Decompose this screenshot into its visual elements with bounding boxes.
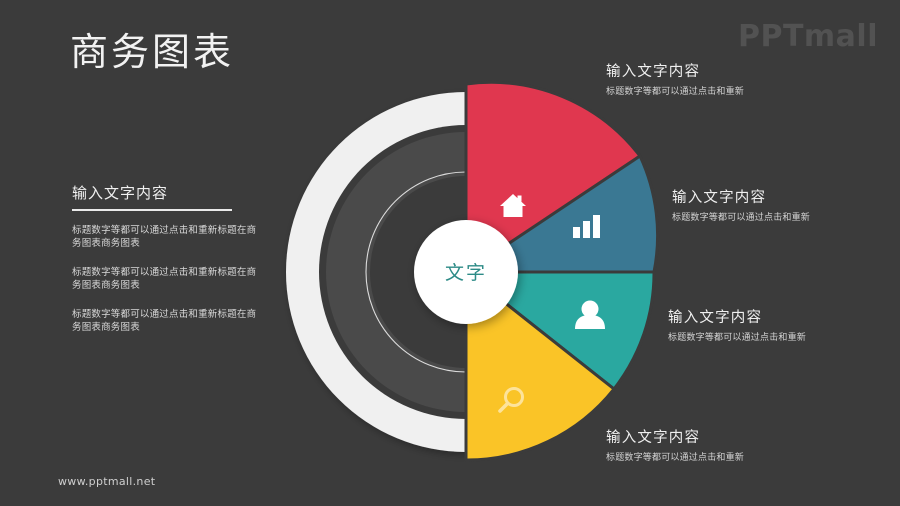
- left-block-divider: [72, 209, 232, 211]
- left-block-heading: 输入文字内容: [72, 183, 258, 203]
- callout-3-title: 输入文字内容: [668, 308, 898, 328]
- callout-3-subtitle: 标题数字等都可以通过点击和重新: [668, 332, 898, 344]
- brand-logo: PPTmall: [738, 20, 878, 54]
- callout-3: 输入文字内容 标题数字等都可以通过点击和重新: [668, 308, 898, 344]
- callout-1: 输入文字内容 标题数字等都可以通过点击和重新: [606, 62, 836, 98]
- slide-canvas: 商务图表 PPTmall 输入文字内容 标题数字等都可以通过点击和重新标题在商务…: [0, 0, 900, 506]
- circular-diagram: 文字: [260, 55, 680, 485]
- callout-1-subtitle: 标题数字等都可以通过点击和重新: [606, 86, 836, 98]
- callout-2-subtitle: 标题数字等都可以通过点击和重新: [672, 212, 900, 224]
- callout-4-title: 输入文字内容: [606, 428, 836, 448]
- footer-url: www.pptmall.net: [58, 475, 155, 488]
- callout-2: 输入文字内容 标题数字等都可以通过点击和重新: [672, 188, 900, 224]
- center-label: 文字: [445, 262, 487, 284]
- page-title: 商务图表: [70, 28, 234, 76]
- callout-4: 输入文字内容 标题数字等都可以通过点击和重新: [606, 428, 836, 464]
- callout-1-title: 输入文字内容: [606, 62, 836, 82]
- left-block-paragraph-3: 标题数字等都可以通过点击和重新标题在商务图表商务图表: [72, 308, 258, 334]
- left-text-block: 输入文字内容 标题数字等都可以通过点击和重新标题在商务图表商务图表 标题数字等都…: [72, 183, 258, 334]
- callout-2-title: 输入文字内容: [672, 188, 900, 208]
- left-block-paragraph-1: 标题数字等都可以通过点击和重新标题在商务图表商务图表: [72, 224, 258, 250]
- left-block-paragraph-2: 标题数字等都可以通过点击和重新标题在商务图表商务图表: [72, 266, 258, 292]
- callout-4-subtitle: 标题数字等都可以通过点击和重新: [606, 452, 836, 464]
